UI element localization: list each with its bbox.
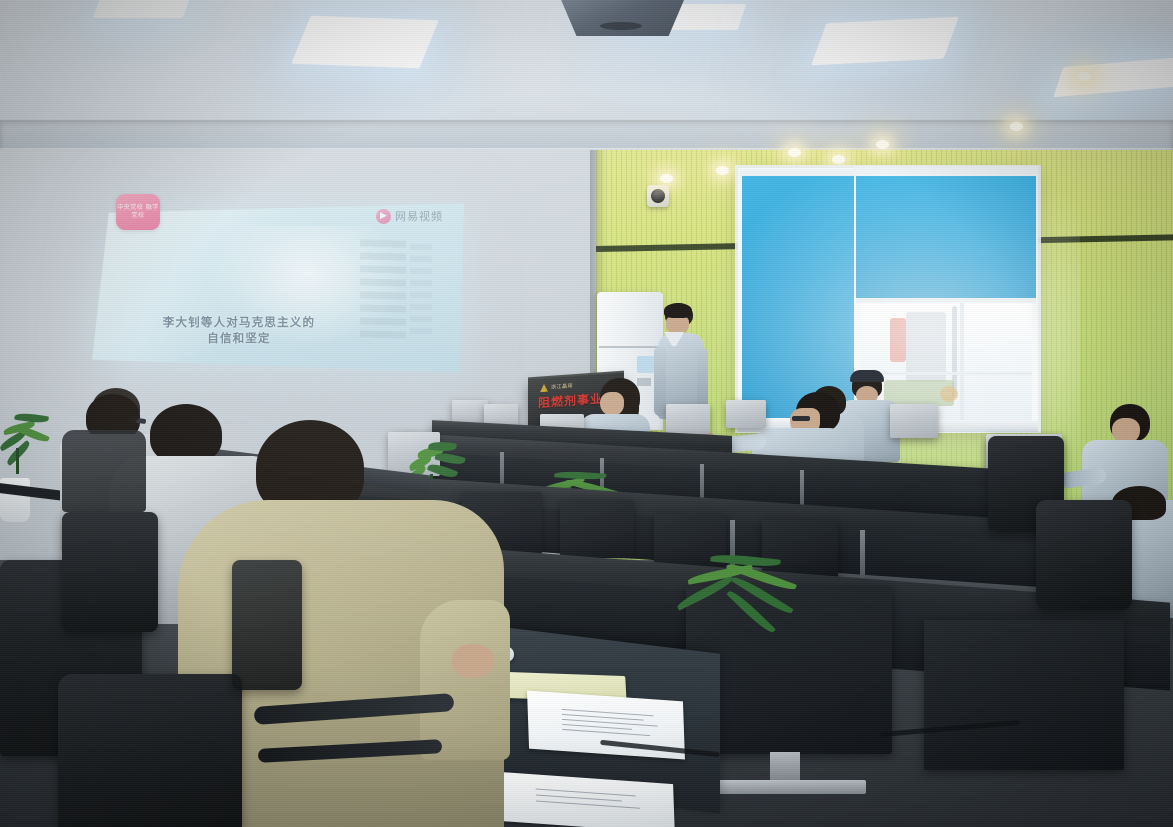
monitor <box>560 500 634 558</box>
office-chair[interactable] <box>1036 500 1132 610</box>
downlight-icon <box>832 155 845 164</box>
monitor <box>924 620 1124 770</box>
slide-subtitle-line-1: 李大钊等人对马克思主义的 <box>114 314 364 330</box>
slide-badge-label: 中央党校 融学党校 <box>116 204 160 220</box>
monitor <box>666 404 710 434</box>
downlight-icon <box>716 166 729 175</box>
ac-panel-seam <box>599 346 661 348</box>
outdoor-banner <box>890 318 906 362</box>
monitor <box>726 400 766 428</box>
attendee-torso <box>62 430 146 512</box>
slide-subtitle-line-2: 自信和坚定 <box>114 330 364 346</box>
floor-plant <box>0 414 52 484</box>
video-watermark: ▶ 网易视频 <box>376 208 443 224</box>
attendee-face <box>600 392 624 416</box>
slide-text-column <box>410 244 432 337</box>
projection-screen: 中央党校 融学党校 ▶ 网易视频 李大钊等人对马克思主义的 自信和坚定 <box>92 196 464 382</box>
blind-bottom-rail[interactable] <box>856 298 1036 303</box>
roller-blind-right[interactable] <box>856 176 1036 300</box>
slide-subtitle: 李大钊等人对马克思主义的 自信和坚定 <box>114 314 364 346</box>
projector-lens-icon <box>600 22 642 30</box>
downlight-icon <box>660 174 673 183</box>
play-circle-icon: ▶ <box>376 209 391 224</box>
attendee-arm <box>420 600 510 760</box>
slide-corner-badge: 中央党校 融学党校 <box>116 194 160 230</box>
office-chair[interactable] <box>232 560 302 690</box>
downlight-icon <box>876 140 889 149</box>
monitor <box>890 404 938 438</box>
glasses-icon <box>792 416 810 421</box>
attendee-hand <box>452 644 494 678</box>
ceiling-panel-light <box>93 0 190 18</box>
downlight-icon <box>788 148 801 157</box>
slide-text-column <box>360 239 406 344</box>
roller-blind-left[interactable] <box>742 176 854 418</box>
downlight-icon <box>1078 72 1091 81</box>
blind-headrail <box>854 166 1038 175</box>
ac-display-panel[interactable] <box>637 356 654 373</box>
camera-lens-icon <box>651 189 665 203</box>
ceiling-projector-icon <box>556 0 684 36</box>
window-mullion <box>960 303 964 423</box>
watermark-label: 网易视频 <box>395 208 443 224</box>
monitor-base <box>718 780 866 794</box>
monitor-stand <box>770 752 800 782</box>
ac-label <box>637 378 651 386</box>
attendee-head <box>150 404 222 464</box>
downlight-icon <box>1010 122 1023 131</box>
ceiling-panel-light <box>811 17 959 66</box>
office-chair[interactable] <box>62 512 158 632</box>
ceiling-panel-light <box>291 16 439 69</box>
attendee-cap-icon <box>850 370 884 382</box>
outdoor-object <box>940 386 958 402</box>
desk-divider-post <box>860 530 865 582</box>
presenter-arm <box>654 346 666 416</box>
training-room-photo: 中央党校 融学党校 ▶ 网易视频 李大钊等人对马克思主义的 自信和坚定 浙江晶琦… <box>0 0 1173 827</box>
presenter-head <box>663 303 695 337</box>
office-chair[interactable] <box>58 674 242 827</box>
desk-plant <box>676 548 826 658</box>
attendee-head <box>92 388 140 428</box>
window-mullion <box>860 372 1032 375</box>
